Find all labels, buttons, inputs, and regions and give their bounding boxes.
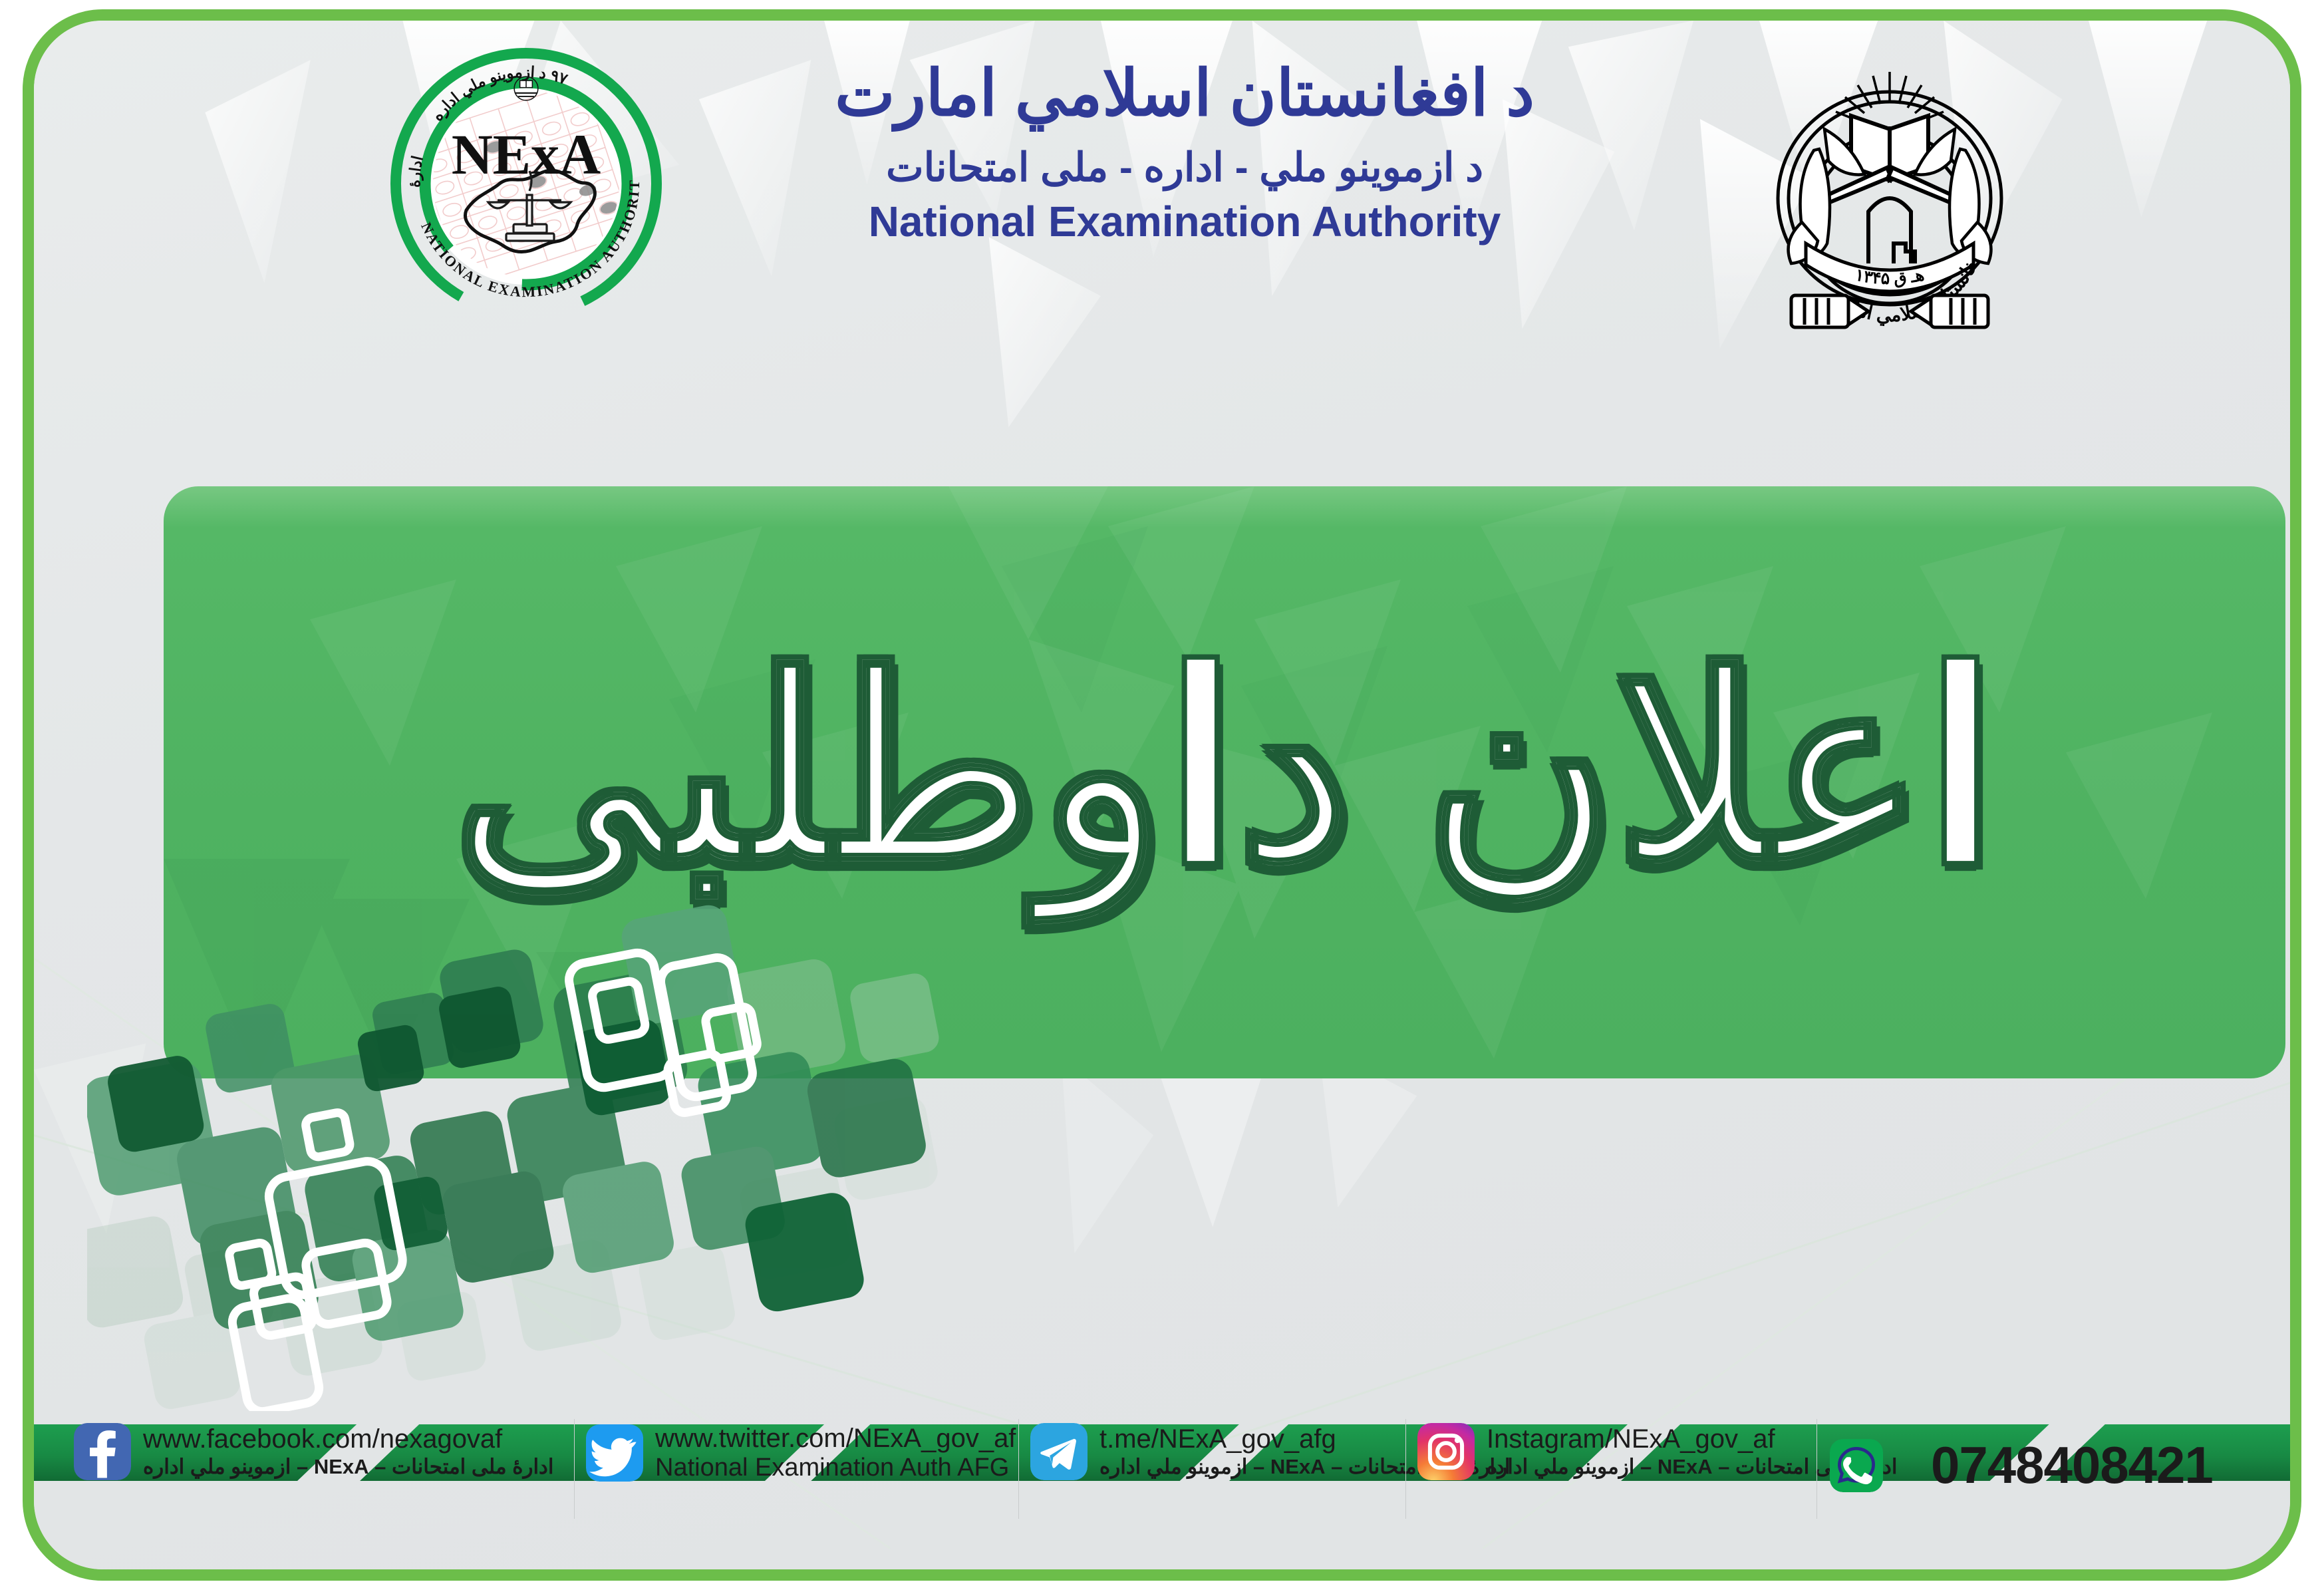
facebook-subtitle: ادارۀ ملی امتحانات – NExA – ازموینو ملي … [143,1454,553,1479]
header-title-block: د افغانستان اسلامي امارت د ازموینو ملي -… [666,54,1703,246]
org-subtitle-dari: د ازموینو ملي - اداره - ملی امتحانات [666,140,1703,194]
poster-root: NExA NATIONAL EXAMINATION AUTHORITY ادار… [0,0,2324,1590]
whatsapp-icon[interactable] [1830,1439,1883,1492]
social-item-facebook[interactable]: www.facebook.com/nexagovaf ادارۀ ملی امت… [74,1423,553,1480]
poster-header: NExA NATIONAL EXAMINATION AUTHORITY ادار… [34,21,2290,353]
divider [574,1419,575,1519]
facebook-handle[interactable]: www.facebook.com/nexagovaf [143,1424,553,1454]
divider [1018,1419,1019,1519]
telegram-icon[interactable] [1030,1423,1088,1480]
facebook-icon[interactable] [74,1423,131,1480]
nexa-acronym: NExA [452,122,601,186]
social-item-whatsapp[interactable]: 0748408421 [1830,1435,2177,1496]
social-item-instagram[interactable]: Instagram/NExA_gov_af ادارۀ ملی امتحانات… [1417,1423,1897,1480]
social-item-twitter[interactable]: www.twitter.com/NExA_gov_af National Exa… [586,1423,1016,1483]
footer-social-bar: www.facebook.com/nexagovaf ادارۀ ملی امت… [34,1411,2290,1531]
twitter-subtitle: National Examination Auth AFG [655,1454,1016,1483]
whatsapp-phone[interactable]: 0748408421 [1931,1435,2213,1496]
social-links-row: www.facebook.com/nexagovaf ادارۀ ملی امت… [34,1411,2290,1531]
twitter-handle[interactable]: www.twitter.com/NExA_gov_af [655,1423,1016,1454]
twitter-icon[interactable] [586,1424,643,1482]
org-title-pashto: د افغانستان اسلامي امارت [666,54,1703,134]
announcement-banner: اعلان داوطلبی [164,486,2285,1078]
instagram-icon[interactable] [1417,1423,1475,1480]
org-title-english: National Examination Authority [666,197,1703,246]
nexa-seal-logo-icon: NExA NATIONAL EXAMINATION AUTHORITY ادار… [383,41,669,327]
divider [1816,1419,1817,1519]
banner-title: اعلان داوطلبی [164,486,2285,1078]
divider [1405,1419,1406,1519]
afghanistan-emirate-emblem-icon: ۱۳۴۵ هـ ق د افغانستان اسلامي امارت [1750,44,2029,330]
poster-frame: NExA NATIONAL EXAMINATION AUTHORITY ادار… [23,9,2301,1581]
